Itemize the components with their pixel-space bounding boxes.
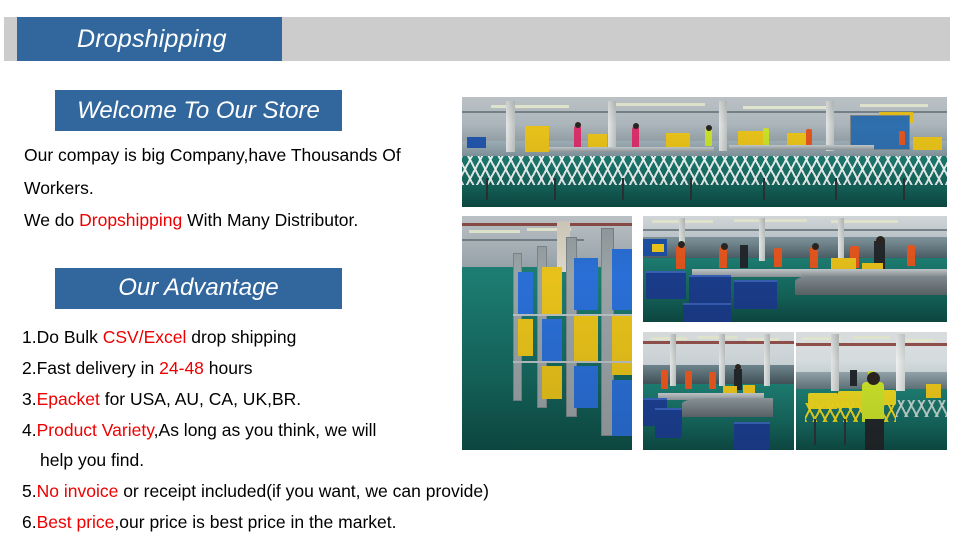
welcome-paragraphs: Our compay is big Company,have Thousands…: [0, 147, 470, 230]
top-banner-tab: Dropshipping: [17, 17, 282, 61]
item-post: for USA, AU, CA, UK,BR.: [100, 389, 301, 409]
warehouse-shelving-photo: [462, 216, 632, 450]
welcome-paragraph-1-line-2-text: Workers.: [24, 178, 94, 198]
item-highlight: Best price: [37, 512, 115, 532]
welcome-paragraph-2-pre: We do: [24, 210, 79, 230]
welcome-paragraph-2-post: With Many Distributor.: [182, 210, 358, 230]
list-item: 3.Epacket for USA, AU, CA, UK,BR.: [0, 389, 470, 410]
item-post: drop shipping: [186, 327, 296, 347]
welcome-paragraph-1-line-1-text: Our compay is big Company,have Thousands…: [24, 145, 401, 165]
item-highlight: Product Variety: [37, 420, 154, 440]
item-highlight: 24-48: [159, 358, 204, 378]
page-title: Dropshipping: [17, 25, 227, 54]
item-number: 5.: [22, 481, 37, 501]
list-item: 4.Product Variety,As long as you think, …: [0, 420, 470, 471]
item-highlight: No invoice: [37, 481, 119, 501]
item-highlight: Epacket: [37, 389, 100, 409]
list-item: 5.No invoice or receipt included(if you …: [0, 481, 470, 502]
item-post: or receipt included(if you want, we can …: [118, 481, 489, 501]
item-pre: Do Bulk: [37, 327, 103, 347]
sorting-line-photo: [643, 216, 947, 322]
item-post: ,As long as you think, we will: [154, 420, 377, 440]
top-banner-bar: Dropshipping: [4, 17, 950, 61]
welcome-paragraph-2: We do Dropshipping With Many Distributor…: [0, 212, 470, 230]
item-number: 2.: [22, 358, 37, 378]
item-post: hours: [204, 358, 253, 378]
welcome-paragraph-1-line-2: Workers.: [0, 180, 470, 198]
item-highlight: CSV/Excel: [103, 327, 187, 347]
advantage-heading-box: Our Advantage: [55, 268, 342, 309]
welcome-heading-label: Welcome To Our Store: [77, 97, 320, 125]
welcome-paragraph-2-highlight: Dropshipping: [79, 210, 182, 230]
advantage-list: 1.Do Bulk CSV/Excel drop shipping 2.Fast…: [0, 327, 470, 533]
item-number: 1.: [22, 327, 37, 347]
advantage-heading-label: Our Advantage: [118, 274, 279, 302]
left-content-column: Welcome To Our Store Our compay is big C…: [0, 90, 470, 543]
welcome-paragraph-1-line-1: Our compay is big Company,have Thousands…: [0, 147, 470, 165]
packing-line-photo: [643, 332, 794, 450]
list-item: 1.Do Bulk CSV/Excel drop shipping: [0, 327, 470, 348]
loading-worker-photo: [796, 332, 947, 450]
warehouse-panorama-photo: [462, 97, 947, 207]
list-item: 2.Fast delivery in 24-48 hours: [0, 358, 470, 379]
item-number: 3.: [22, 389, 37, 409]
item-continuation: help you find.: [22, 450, 470, 471]
item-pre: Fast delivery in: [37, 358, 160, 378]
list-item: 6.Best price,our price is best price in …: [0, 512, 470, 533]
item-post: ,our price is best price in the market.: [114, 512, 396, 532]
item-number: 6.: [22, 512, 37, 532]
photo-collage: [462, 97, 947, 450]
advantage-heading-wrapper: Our Advantage: [0, 268, 470, 309]
welcome-heading-box: Welcome To Our Store: [55, 90, 342, 131]
item-number: 4.: [22, 420, 37, 440]
